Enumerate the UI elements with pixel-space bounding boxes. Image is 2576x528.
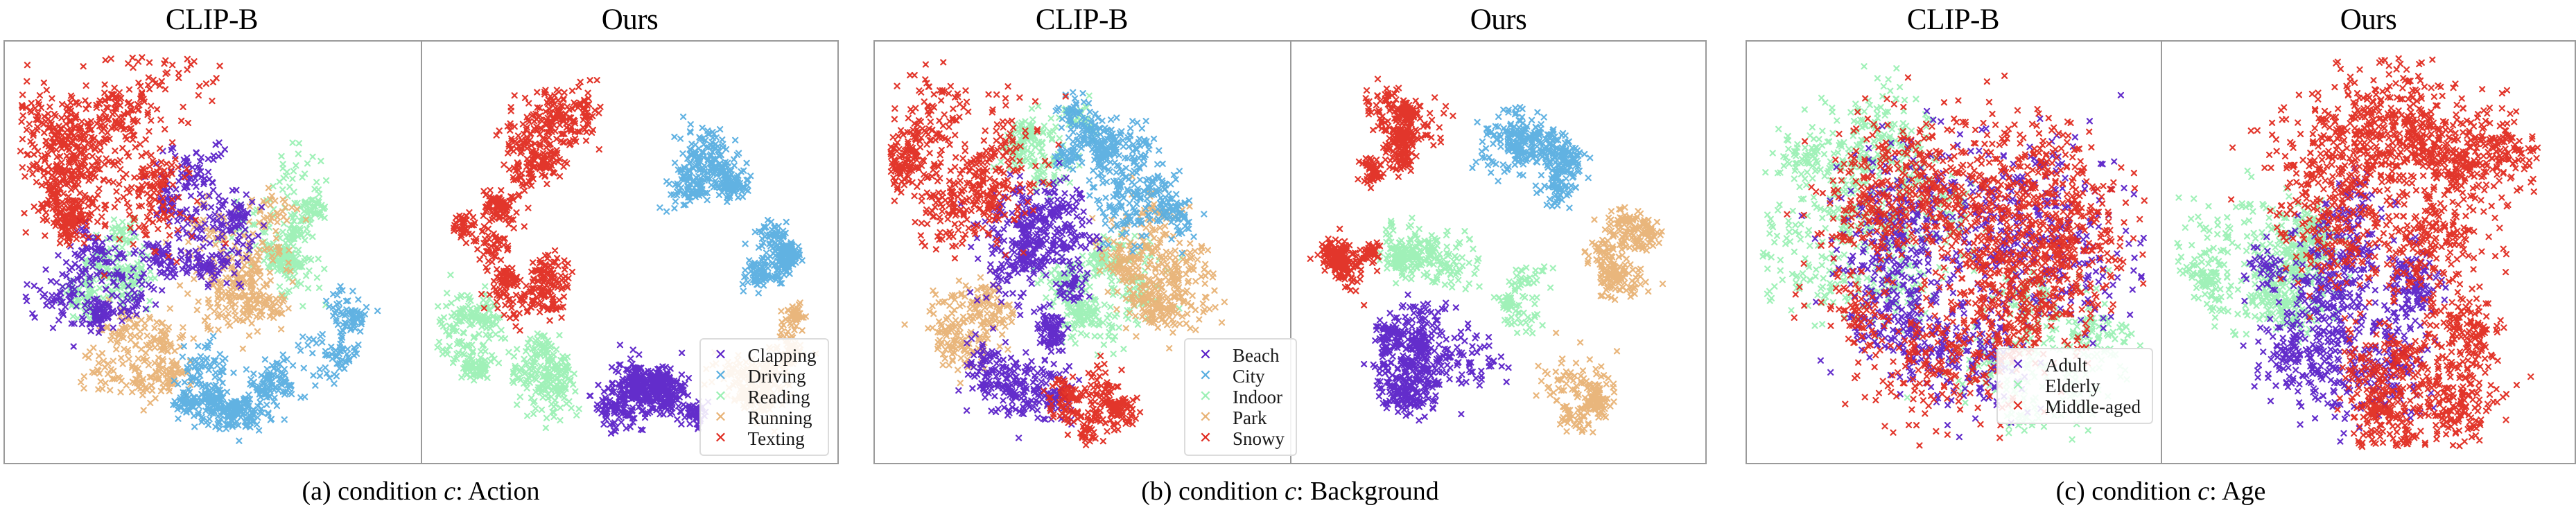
legend-marker-x-icon: ✕ — [2006, 376, 2030, 396]
panel-a-title-left: CLIP-B — [3, 0, 421, 40]
panel-c-caption: (c) condition c: Age — [1746, 470, 2576, 513]
legend-item[interactable]: ✕Clapping — [709, 345, 817, 366]
legend-label: Indoor — [1217, 387, 1282, 407]
legend-marker-x-icon: ✕ — [1194, 428, 1217, 449]
legend-item[interactable]: ✕Driving — [709, 366, 817, 387]
legend-label: Beach — [1217, 345, 1279, 366]
panel-a-caption-var: c — [444, 477, 455, 506]
panel-a-plot-frame: ✕Clapping✕Driving✕Reading✕Running✕Textin… — [3, 40, 839, 464]
panel-b-caption-prefix: (b) condition — [1141, 477, 1285, 506]
legend-item[interactable]: ✕Middle-aged — [2006, 396, 2141, 417]
legend-item[interactable]: ✕Park — [1194, 407, 1285, 428]
scatter-a-clipb — [5, 42, 421, 463]
panel-c-caption-suffix: : Age — [2209, 477, 2265, 506]
legend-label: Elderly — [2030, 376, 2100, 396]
legend-label: Clapping — [733, 345, 817, 366]
legend-marker-x-icon: ✕ — [1194, 345, 1217, 366]
panel-a-caption-prefix: (a) condition — [302, 477, 444, 506]
panel-c-plot-ours — [2161, 42, 2575, 463]
scatter-c-ours — [2161, 42, 2575, 463]
legend-marker-x-icon: ✕ — [2006, 396, 2030, 417]
legend-item[interactable]: ✕Elderly — [2006, 376, 2141, 396]
legend-item[interactable]: ✕Reading — [709, 387, 817, 407]
legend-label: Snowy — [1217, 428, 1285, 449]
panel-b-caption: (b) condition c: Background — [873, 470, 1707, 513]
panel-c-caption-var: c — [2198, 477, 2209, 506]
legend-label: Reading — [733, 387, 810, 407]
panel-b-titles: CLIP-B Ours — [873, 0, 1707, 40]
legend-marker-x-icon: ✕ — [709, 428, 733, 449]
legend-label: City — [1217, 366, 1265, 387]
legend-marker-x-icon: ✕ — [709, 366, 733, 387]
panel-a-caption-suffix: : Action — [455, 477, 539, 506]
legend-marker-x-icon: ✕ — [1194, 407, 1217, 428]
legend-item[interactable]: ✕Indoor — [1194, 387, 1285, 407]
panel-b-title-right: Ours — [1290, 0, 1707, 40]
panel-c-title-right: Ours — [2161, 0, 2576, 40]
legend-label: Park — [1217, 407, 1267, 428]
legend-marker-x-icon: ✕ — [2006, 355, 2030, 376]
panel-a-titles: CLIP-B Ours — [3, 0, 839, 40]
panel-c-title-left: CLIP-B — [1746, 0, 2161, 40]
panel-c-legend[interactable]: ✕Adult✕Elderly✕Middle-aged — [1996, 348, 2153, 424]
legend-item[interactable]: ✕City — [1194, 366, 1285, 387]
legend-marker-x-icon: ✕ — [1194, 366, 1217, 387]
scatter-b-ours — [1290, 42, 1705, 463]
legend-item[interactable]: ✕Running — [709, 407, 817, 428]
legend-item[interactable]: ✕Snowy — [1194, 428, 1285, 449]
panel-a-plot-clipb — [5, 42, 421, 463]
legend-label: Middle-aged — [2030, 396, 2141, 417]
legend-item[interactable]: ✕Texting — [709, 428, 817, 449]
panel-b-legend[interactable]: ✕Beach✕City✕Indoor✕Park✕Snowy — [1184, 338, 1297, 456]
panel-a-caption: (a) condition c: Action — [3, 470, 839, 513]
figure-root: CLIP-B Ours ✕Clapping✕Driving✕Reading✕Ru… — [0, 0, 2576, 528]
legend-marker-x-icon: ✕ — [1194, 387, 1217, 407]
panel-a: CLIP-B Ours ✕Clapping✕Driving✕Reading✕Ru… — [3, 0, 839, 513]
panel-b-plot-ours — [1290, 42, 1705, 463]
panel-b: CLIP-B Ours ✕Beach✕City✕Indoor✕Park✕Snow… — [873, 0, 1707, 513]
legend-marker-x-icon: ✕ — [709, 387, 733, 407]
legend-marker-x-icon: ✕ — [709, 345, 733, 366]
legend-label: Running — [733, 407, 812, 428]
panel-c-plot-frame: ✕Adult✕Elderly✕Middle-aged — [1746, 40, 2576, 464]
panel-c-caption-prefix: (c) condition — [2056, 477, 2198, 506]
panel-a-legend[interactable]: ✕Clapping✕Driving✕Reading✕Running✕Textin… — [699, 338, 829, 456]
panel-c: CLIP-B Ours ✕Adult✕Elderly✕Middle-aged (… — [1746, 0, 2576, 513]
panel-b-caption-var: c — [1285, 477, 1296, 506]
panel-b-caption-suffix: : Background — [1296, 477, 1439, 506]
panel-b-title-left: CLIP-B — [873, 0, 1290, 40]
legend-label: Adult — [2030, 355, 2088, 376]
legend-label: Driving — [733, 366, 806, 387]
panel-c-titles: CLIP-B Ours — [1746, 0, 2576, 40]
panel-a-title-right: Ours — [421, 0, 839, 40]
legend-label: Texting — [733, 428, 805, 449]
panel-b-plot-frame: ✕Beach✕City✕Indoor✕Park✕Snowy — [873, 40, 1707, 464]
legend-marker-x-icon: ✕ — [709, 407, 733, 428]
legend-item[interactable]: ✕Adult — [2006, 355, 2141, 376]
legend-item[interactable]: ✕Beach — [1194, 345, 1285, 366]
